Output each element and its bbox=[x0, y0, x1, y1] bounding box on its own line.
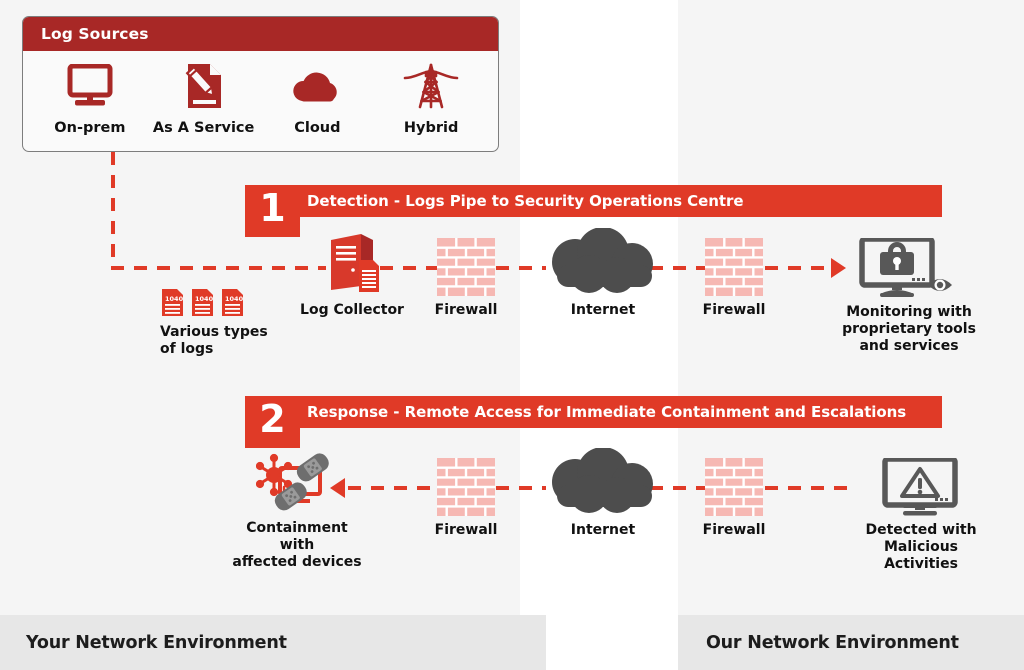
monitor-icon bbox=[67, 59, 113, 113]
log-sources-title: Log Sources bbox=[41, 25, 149, 43]
firewall-icon bbox=[437, 238, 495, 296]
node-internet-1: Internet bbox=[532, 228, 674, 319]
log-source-label: Hybrid bbox=[404, 120, 458, 136]
log-sources-items: On-prem As A Service bbox=[23, 51, 498, 136]
node-label: Containment with affected devices bbox=[228, 520, 366, 571]
diagram-canvas: Log Sources On-prem bbox=[0, 0, 1024, 670]
node-detected-malicious: Detected with Malicious Activities bbox=[846, 458, 996, 573]
section-2-title: Response - Remote Access for Immediate C… bbox=[307, 396, 906, 428]
section-response: 2 Response - Remote Access for Immediate… bbox=[245, 396, 942, 428]
section-1-banner: 1 Detection - Logs Pipe to Security Oper… bbox=[245, 185, 942, 217]
firewall-icon bbox=[705, 458, 763, 516]
footer-our-network: Our Network Environment bbox=[678, 615, 1024, 670]
cloud-icon bbox=[290, 59, 344, 113]
node-label: Internet bbox=[571, 522, 635, 539]
log-source-label: Cloud bbox=[294, 120, 340, 136]
server-icon bbox=[317, 232, 387, 296]
cloud-internet-icon bbox=[537, 228, 669, 296]
section-detection: 1 Detection - Logs Pipe to Security Oper… bbox=[245, 185, 942, 217]
log-source-item-hybrid[interactable]: Hybrid bbox=[374, 59, 488, 136]
node-label: Various types of logs bbox=[160, 324, 268, 358]
node-label: Firewall bbox=[703, 302, 766, 319]
firewall-icon bbox=[705, 238, 763, 296]
svg-text:1040: 1040 bbox=[225, 295, 244, 303]
svg-text:1040: 1040 bbox=[195, 295, 214, 303]
section-1-number: 1 bbox=[245, 185, 300, 237]
node-label: Monitoring with proprietary tools and se… bbox=[842, 304, 976, 355]
infected-devices-bandage-icon bbox=[256, 452, 338, 514]
footer-right-label: Our Network Environment bbox=[706, 633, 959, 653]
node-containment: Containment with affected devices bbox=[228, 452, 366, 571]
log-source-label: On-prem bbox=[54, 120, 125, 136]
firewall-icon bbox=[437, 458, 495, 516]
log-sources-header: Log Sources bbox=[23, 17, 498, 51]
node-label: Firewall bbox=[435, 522, 498, 539]
document-pen-icon bbox=[182, 59, 226, 113]
connector-logsources-vertical bbox=[111, 152, 115, 268]
log-documents-icon: 1040 1040 1040 bbox=[160, 288, 252, 318]
monitor-warning-icon bbox=[881, 458, 961, 516]
internet-gap-band bbox=[520, 0, 678, 670]
svg-text:1040: 1040 bbox=[165, 295, 184, 303]
log-source-item-on-prem[interactable]: On-prem bbox=[33, 59, 147, 136]
node-label: Firewall bbox=[703, 522, 766, 539]
node-log-collector: Log Collector bbox=[292, 232, 412, 319]
node-label: Internet bbox=[571, 302, 635, 319]
section-2-banner: 2 Response - Remote Access for Immediate… bbox=[245, 396, 942, 428]
cloud-internet-icon bbox=[537, 448, 669, 516]
log-source-label: As A Service bbox=[153, 120, 254, 136]
section-2-number: 2 bbox=[245, 396, 300, 448]
node-firewall-2: Firewall bbox=[674, 238, 794, 319]
node-monitoring: Monitoring with proprietary tools and se… bbox=[834, 238, 984, 355]
node-label: Log Collector bbox=[300, 302, 404, 319]
section-1-title: Detection - Logs Pipe to Security Operat… bbox=[307, 185, 743, 217]
node-firewall-1: Firewall bbox=[406, 238, 526, 319]
monitor-lock-eye-icon bbox=[858, 238, 960, 298]
node-firewall-4: Firewall bbox=[674, 458, 794, 539]
power-tower-icon bbox=[402, 59, 460, 113]
node-various-logs: 1040 1040 1040 bbox=[160, 288, 278, 358]
footer-left-label: Your Network Environment bbox=[26, 633, 287, 653]
node-internet-2: Internet bbox=[532, 448, 674, 539]
node-firewall-3: Firewall bbox=[406, 458, 526, 539]
log-sources-card: Log Sources On-prem bbox=[22, 16, 499, 152]
node-label: Detected with Malicious Activities bbox=[846, 522, 996, 573]
node-label: Firewall bbox=[435, 302, 498, 319]
log-source-item-as-a-service[interactable]: As A Service bbox=[147, 59, 261, 136]
footer-your-network: Your Network Environment bbox=[0, 615, 546, 670]
log-source-item-cloud[interactable]: Cloud bbox=[261, 59, 375, 136]
